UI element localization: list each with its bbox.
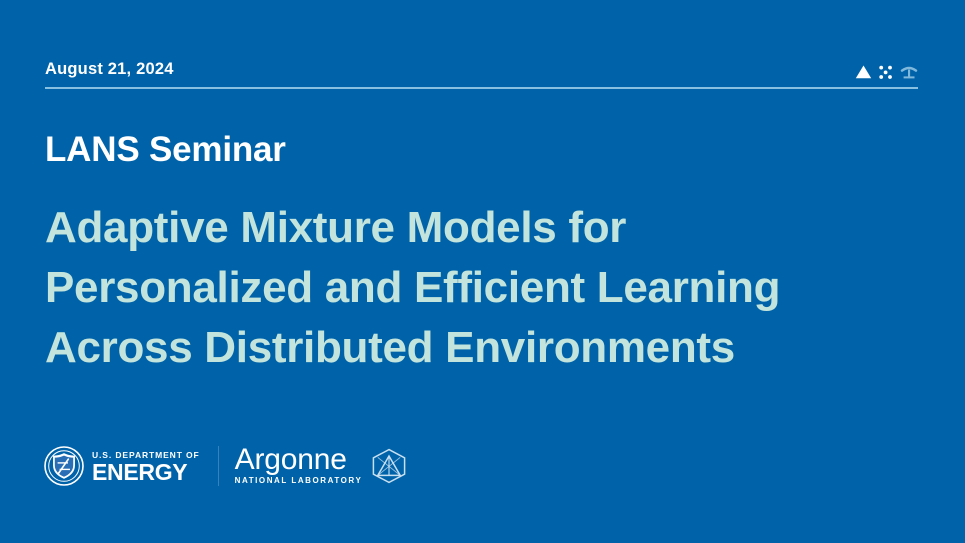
doe-logo: U.S. DEPARTMENT OF ENERGY (44, 446, 200, 486)
argonne-subtitle-text: NATIONAL LABORATORY (235, 476, 363, 486)
triangle-mark-icon (855, 65, 872, 79)
argonne-name-text: Argonne (235, 444, 363, 475)
doe-seal-icon (44, 446, 84, 486)
title-line-3: Across Distributed Environments (45, 318, 925, 378)
title-slide: August 21, 2024 (0, 0, 965, 543)
tree-mark-icon (900, 65, 918, 79)
seminar-label: LANS Seminar (45, 130, 286, 170)
doe-wordmark: U.S. DEPARTMENT OF ENERGY (92, 450, 200, 484)
argonne-logo: Argonne NATIONAL LABORATORY (235, 444, 410, 489)
argonne-wordmark: Argonne NATIONAL LABORATORY (235, 444, 363, 486)
slide-date: August 21, 2024 (45, 60, 174, 79)
doe-energy-text: ENERGY (92, 460, 200, 484)
dots-mark-icon (878, 65, 894, 79)
title-line-2: Personalized and Efficient Learning (45, 258, 925, 318)
doe-department-text: U.S. DEPARTMENT OF (92, 450, 200, 460)
slide-title: Adaptive Mixture Models for Personalized… (45, 198, 925, 378)
logo-divider (218, 446, 219, 486)
slide-header: August 21, 2024 (45, 60, 918, 92)
footer-logos: U.S. DEPARTMENT OF ENERGY Argonne NATION… (44, 440, 409, 492)
header-brand-marks (855, 61, 918, 83)
header-divider (45, 87, 918, 89)
title-line-1: Adaptive Mixture Models for (45, 198, 925, 258)
argonne-hexagon-icon (369, 448, 409, 489)
